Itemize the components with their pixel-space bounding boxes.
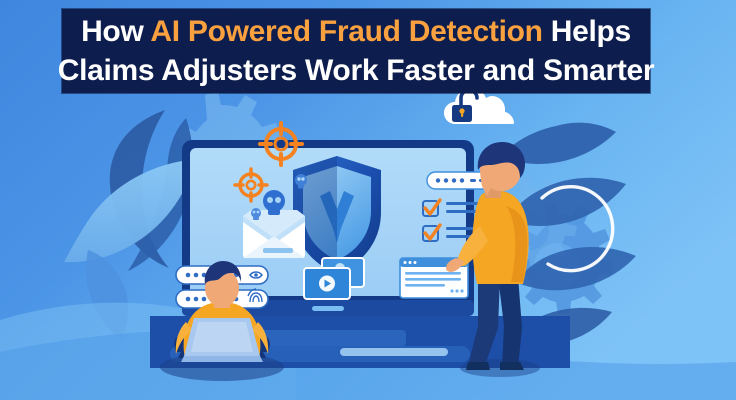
banner-image-root: How AI Powered Fraud Detection Helps Cla… <box>0 0 736 400</box>
title-line-1: How AI Powered Fraud Detection Helps <box>81 12 631 51</box>
standing-shoe-back <box>500 362 524 370</box>
laptop <box>181 318 263 362</box>
standing-leg-back <box>498 276 522 368</box>
standing-person-reviewing-checklist <box>446 142 540 377</box>
title-line-2: Claims Adjusters Work Faster and Smarter <box>58 51 655 90</box>
seated-person-with-laptop <box>160 261 284 381</box>
title-accent-phrase: AI Powered Fraud Detection <box>150 15 542 48</box>
title-suffix: Helps <box>543 15 631 48</box>
title-banner: How AI Powered Fraud Detection Helps Cla… <box>62 9 650 93</box>
standing-leg-front <box>468 276 500 368</box>
title-prefix: How <box>81 15 150 48</box>
standing-shoe-front <box>466 362 490 370</box>
standing-hand <box>446 258 464 272</box>
